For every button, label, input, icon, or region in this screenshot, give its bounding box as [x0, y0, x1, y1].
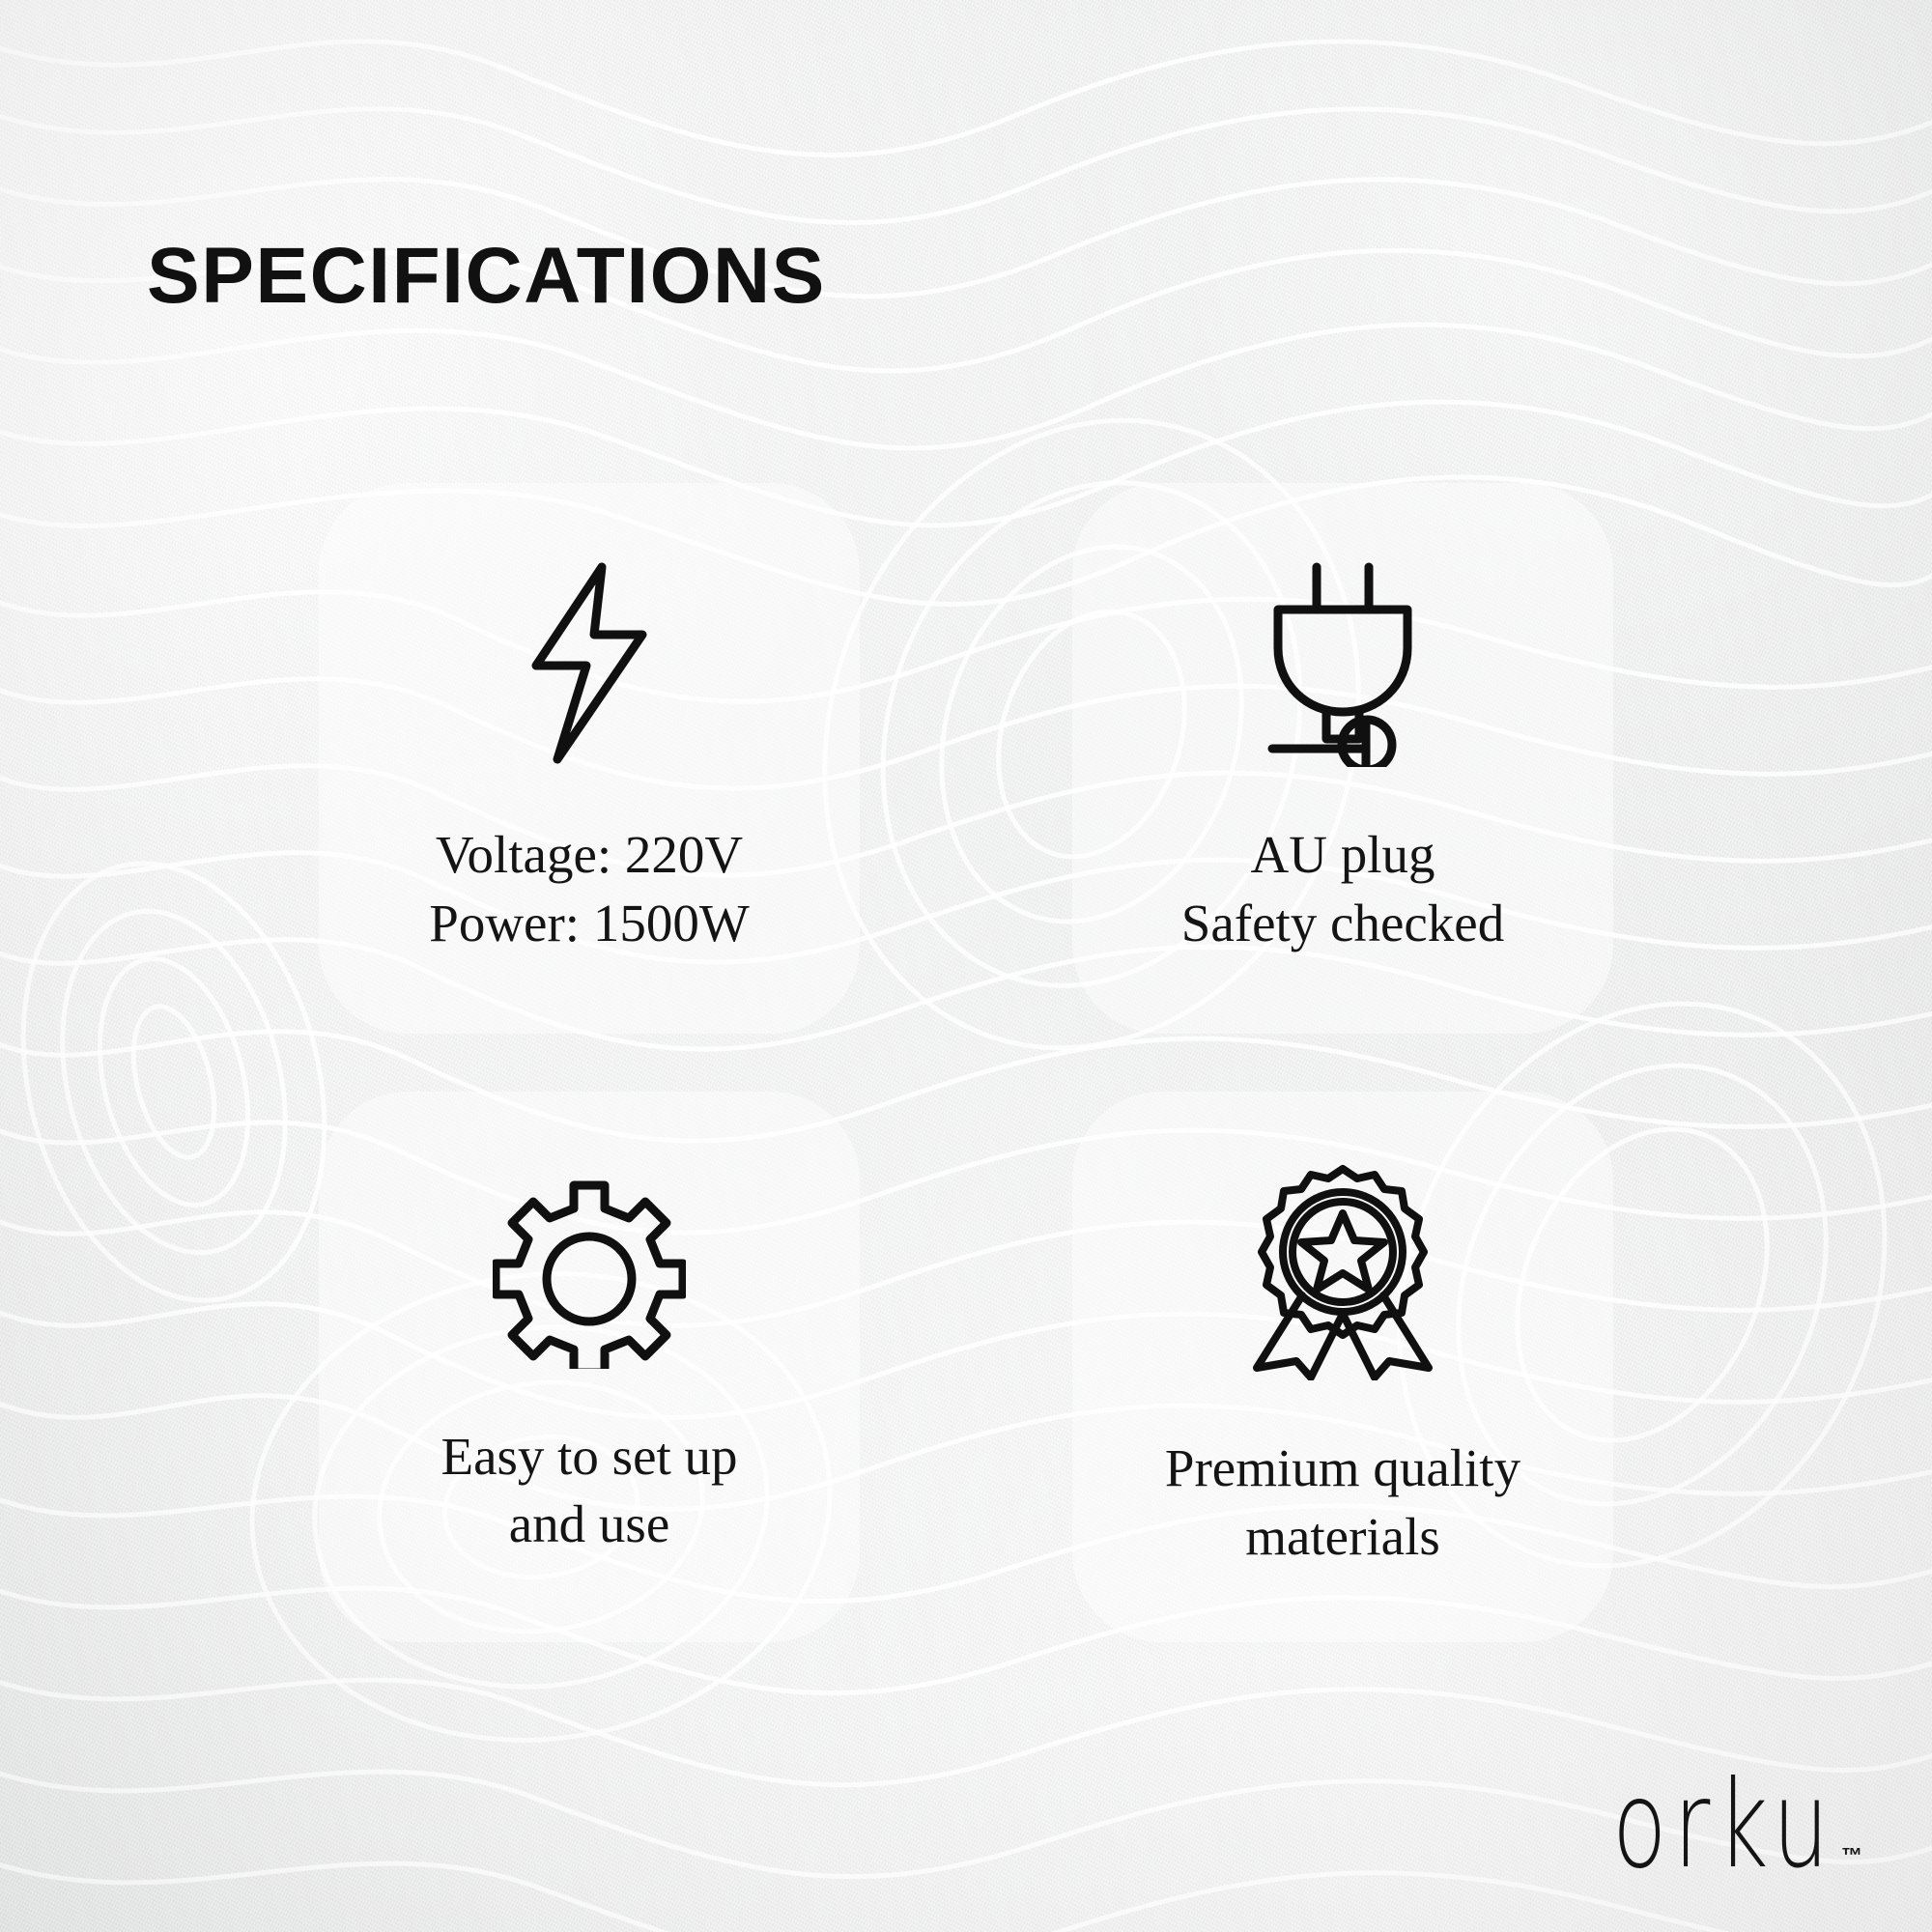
spec-card-au-plug[interactable]: AU plug Safety checked: [1072, 483, 1613, 1034]
specifications-page: SPECIFICATIONS Voltage: 220V Power: 1500…: [0, 0, 1932, 1932]
specification-cards-grid: Voltage: 220V Power: 1500W: [319, 483, 1613, 1642]
award-ribbon-icon: [1241, 1163, 1444, 1380]
spec-card-easy-setup-text: Easy to set up and use: [440, 1423, 737, 1559]
spec-card-premium-materials[interactable]: Premium quality materials: [1072, 1092, 1613, 1642]
lightning-bolt-icon: [507, 559, 671, 767]
spec-card-easy-setup[interactable]: Easy to set up and use: [319, 1092, 860, 1642]
power-plug-icon: [1251, 559, 1435, 767]
trademark-symbol: ™: [1841, 1843, 1862, 1868]
brand-logo-wordmark: orku: [1612, 1767, 1835, 1882]
page-title: SPECIFICATIONS: [147, 237, 826, 316]
spec-card-voltage-power[interactable]: Voltage: 220V Power: 1500W: [319, 483, 860, 1034]
spec-card-au-plug-text: AU plug Safety checked: [1181, 821, 1504, 957]
brand-logo: orku ™: [1549, 1774, 1862, 1882]
spec-card-premium-materials-text: Premium quality materials: [1165, 1435, 1520, 1571]
spec-card-voltage-power-text: Voltage: 220V Power: 1500W: [429, 821, 749, 957]
gear-icon: [493, 1176, 686, 1369]
